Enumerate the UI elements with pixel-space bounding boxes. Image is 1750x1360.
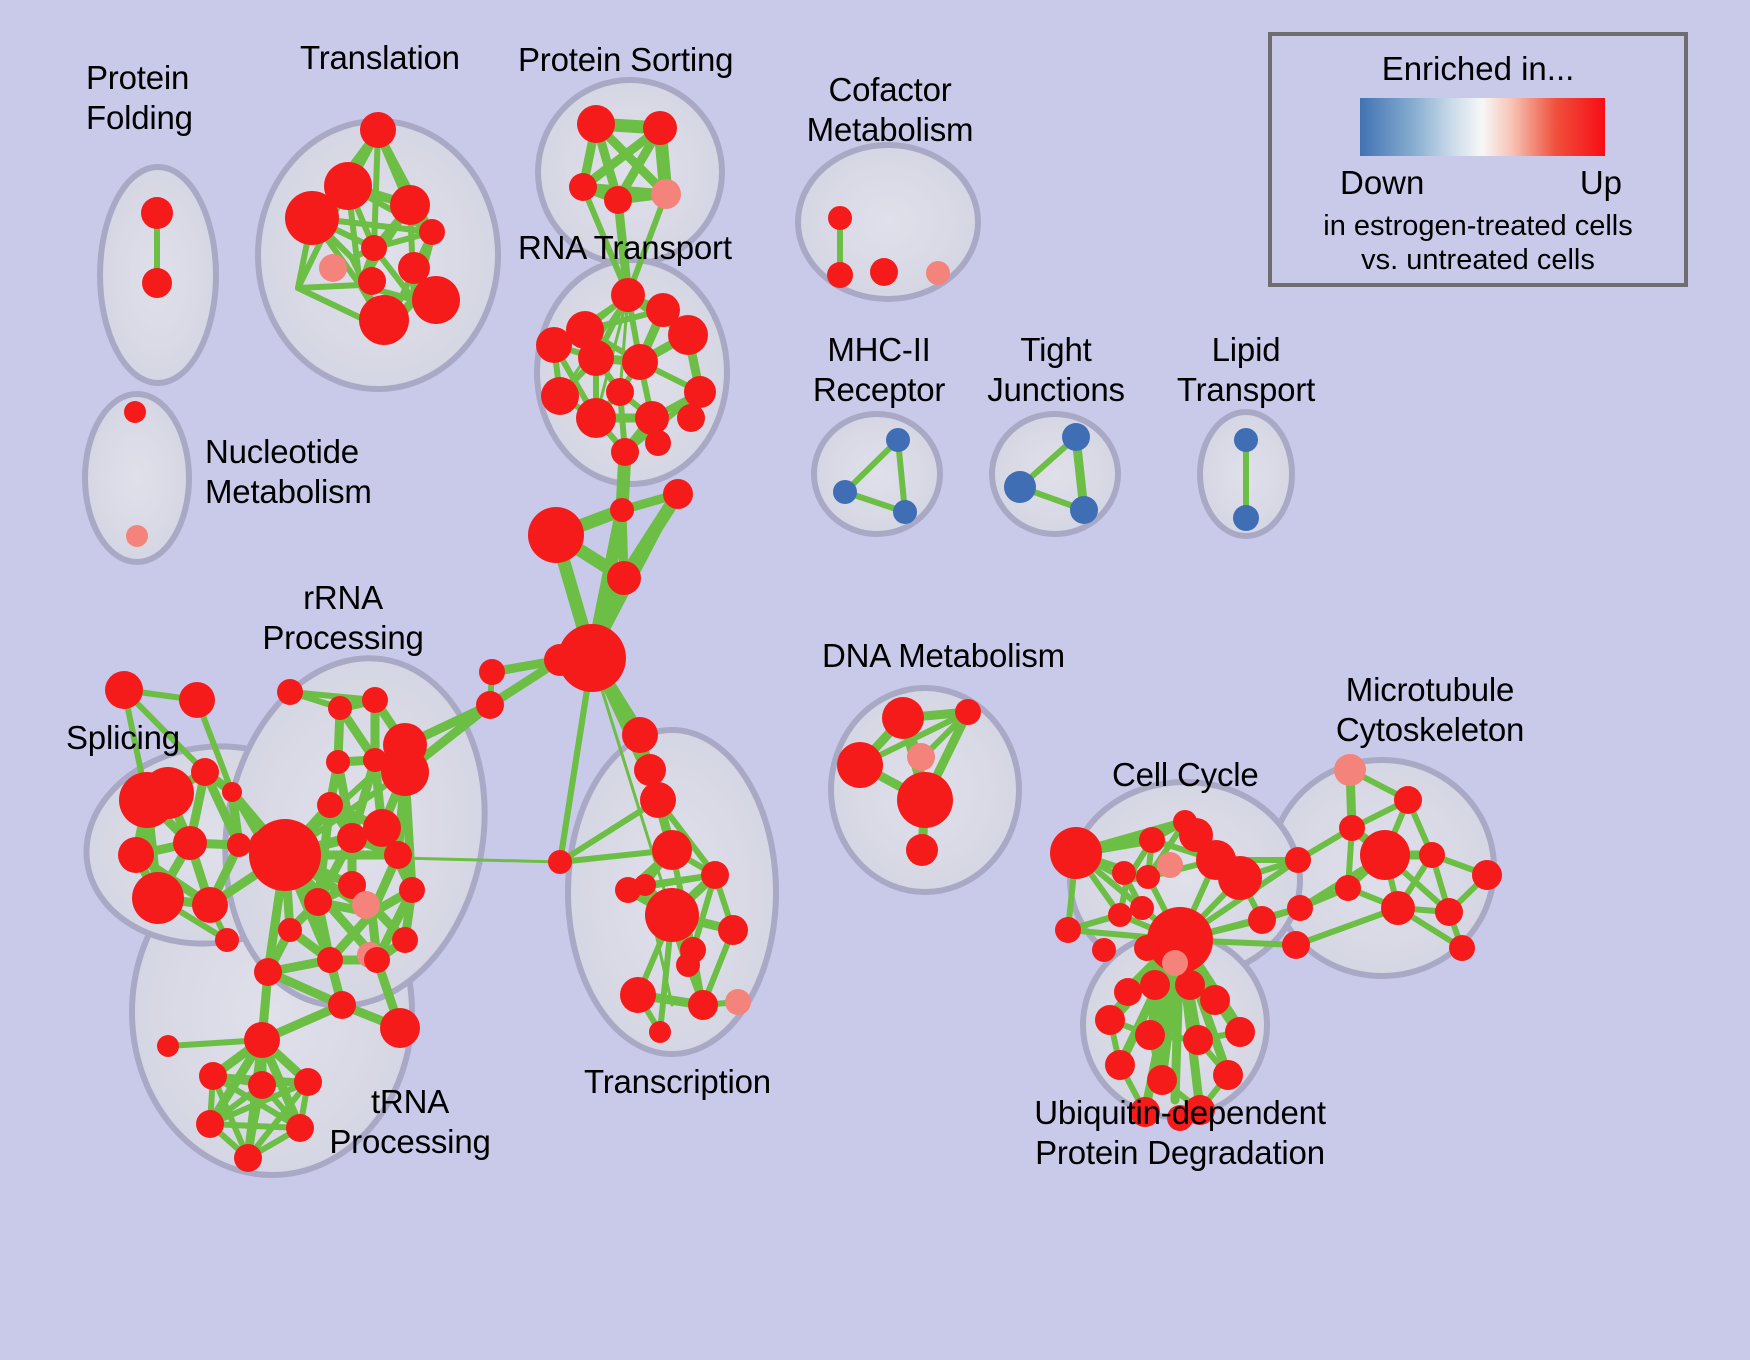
- node: [419, 219, 445, 245]
- node: [611, 438, 639, 466]
- node: [677, 404, 705, 432]
- cluster-label-tight-junctions: Tight Junctions: [965, 330, 1147, 410]
- node: [179, 682, 215, 718]
- node: [1394, 786, 1422, 814]
- node: [668, 315, 708, 355]
- node: [606, 378, 634, 406]
- node: [611, 278, 645, 312]
- node: [358, 267, 386, 295]
- node: [645, 888, 699, 942]
- node: [1139, 827, 1165, 853]
- node: [1070, 496, 1098, 524]
- node: [640, 782, 676, 818]
- node: [610, 498, 634, 522]
- node: [652, 830, 692, 870]
- node: [227, 833, 251, 857]
- node: [1135, 1020, 1165, 1050]
- cluster-label-cofactor-metabolism: Cofactor Metabolism: [790, 70, 990, 150]
- node: [886, 428, 910, 452]
- cluster-label-cell-cycle: Cell Cycle: [1112, 755, 1259, 795]
- node: [1334, 754, 1366, 786]
- enrichment-map-figure: .cl { fill:url(#clusterGrad); stroke:#a9…: [0, 0, 1750, 1360]
- cluster-label-mhc-ii-receptor: MHC-II Receptor: [790, 330, 968, 410]
- legend-subtitle-line2: vs. untreated cells: [1272, 244, 1684, 277]
- node: [364, 947, 390, 973]
- node: [622, 717, 658, 753]
- node: [955, 699, 981, 725]
- node: [118, 837, 154, 873]
- cluster-label-protein-folding: Protein Folding: [86, 58, 193, 138]
- node: [399, 877, 425, 903]
- cluster-label-transcription: Transcription: [584, 1062, 771, 1102]
- node: [1339, 815, 1365, 841]
- node: [1112, 861, 1136, 885]
- node: [676, 953, 700, 977]
- node: [1179, 818, 1213, 852]
- node: [604, 186, 632, 214]
- node: [250, 831, 274, 855]
- node: [1108, 903, 1132, 927]
- node: [126, 525, 148, 547]
- node: [381, 748, 429, 796]
- node: [1095, 1005, 1125, 1035]
- node: [199, 1062, 227, 1090]
- node: [541, 377, 579, 415]
- node: [578, 340, 614, 376]
- node: [157, 1035, 179, 1057]
- node: [390, 185, 430, 225]
- node: [384, 841, 412, 869]
- legend-low-label: Down: [1340, 164, 1424, 202]
- node: [548, 850, 572, 874]
- cluster-label-splicing: Splicing: [66, 718, 180, 758]
- node: [1147, 1065, 1177, 1095]
- node: [684, 376, 716, 408]
- node: [222, 782, 242, 802]
- node: [1200, 985, 1230, 1015]
- node: [1114, 978, 1142, 1006]
- node: [1130, 896, 1154, 920]
- node: [1105, 1050, 1135, 1080]
- node: [1360, 830, 1410, 880]
- legend-high-label: Up: [1580, 164, 1622, 202]
- node: [234, 1144, 262, 1172]
- node: [634, 754, 666, 786]
- node: [663, 479, 693, 509]
- node: [215, 928, 239, 952]
- cluster-label-ubiquitin-protein-degradation: Ubiquitin-dependent Protein Degradation: [1000, 1093, 1360, 1173]
- node: [893, 500, 917, 524]
- cluster-label-nucleotide-metabolism: Nucleotide Metabolism: [205, 432, 372, 512]
- node: [1134, 935, 1160, 961]
- node: [249, 819, 321, 891]
- cluster-ellipse-mhc-ii-receptor: [814, 414, 940, 534]
- node: [701, 861, 729, 889]
- cluster-label-rrna-processing: rRNA Processing: [248, 578, 438, 658]
- node: [1183, 1025, 1213, 1055]
- node: [141, 197, 173, 229]
- cluster-label-dna-metabolism: DNA Metabolism: [822, 636, 1065, 676]
- node: [906, 834, 938, 866]
- node: [1225, 1017, 1255, 1047]
- node: [576, 398, 616, 438]
- node: [1055, 917, 1081, 943]
- node: [328, 696, 352, 720]
- node: [277, 679, 303, 705]
- node: [278, 918, 302, 942]
- node: [528, 507, 584, 563]
- node: [622, 344, 658, 380]
- node: [620, 977, 656, 1013]
- node: [634, 874, 656, 896]
- node: [1157, 852, 1183, 878]
- node: [718, 915, 748, 945]
- node: [124, 401, 146, 423]
- legend-subtitle-line1: in estrogen-treated cells: [1272, 210, 1684, 243]
- node: [1004, 471, 1036, 503]
- node: [833, 480, 857, 504]
- cluster-label-protein-sorting: Protein Sorting: [518, 40, 733, 80]
- node: [649, 1021, 671, 1043]
- cluster-label-microtubule-cytoskeleton: Microtubule Cytoskeleton: [1290, 670, 1570, 750]
- node: [607, 561, 641, 595]
- node: [248, 1071, 276, 1099]
- node: [1234, 428, 1258, 452]
- node: [326, 750, 350, 774]
- node: [392, 927, 418, 953]
- node: [479, 659, 505, 685]
- node: [1092, 938, 1116, 962]
- node: [476, 691, 504, 719]
- node: [196, 1110, 224, 1138]
- node: [827, 262, 853, 288]
- node: [191, 758, 219, 786]
- node: [1381, 891, 1415, 925]
- node: [635, 401, 669, 435]
- node: [285, 191, 339, 245]
- node: [643, 111, 677, 145]
- node: [897, 772, 953, 828]
- node: [1218, 856, 1262, 900]
- node: [1335, 875, 1361, 901]
- node: [688, 990, 718, 1020]
- cluster-label-lipid-transport: Lipid Transport: [1155, 330, 1337, 410]
- node: [173, 826, 207, 860]
- node: [319, 254, 347, 282]
- node: [244, 1022, 280, 1058]
- cluster-label-translation: Translation: [300, 38, 460, 78]
- node: [1248, 906, 1276, 934]
- node: [725, 989, 751, 1015]
- node: [192, 887, 228, 923]
- node: [352, 891, 380, 919]
- node: [1233, 505, 1259, 531]
- node: [1062, 423, 1090, 451]
- cluster-label-rna-transport: RNA Transport: [518, 228, 732, 268]
- node: [1287, 895, 1313, 921]
- node: [1449, 935, 1475, 961]
- node: [544, 644, 576, 676]
- node: [828, 206, 852, 230]
- node: [317, 792, 343, 818]
- node: [317, 947, 343, 973]
- node: [926, 261, 950, 285]
- node: [142, 268, 172, 298]
- node: [1213, 1060, 1243, 1090]
- node: [362, 687, 388, 713]
- node: [837, 742, 883, 788]
- node: [359, 295, 409, 345]
- node: [254, 958, 282, 986]
- legend-color-gradient: [1360, 98, 1605, 156]
- node: [882, 697, 924, 739]
- node: [380, 1008, 420, 1048]
- node: [119, 772, 175, 828]
- node: [569, 173, 597, 201]
- node: [360, 112, 396, 148]
- node: [1140, 970, 1170, 1000]
- node: [1472, 860, 1502, 890]
- node: [132, 872, 184, 924]
- node: [412, 276, 460, 324]
- node: [645, 430, 671, 456]
- cluster-label-trna-processing: tRNA Processing: [300, 1082, 520, 1162]
- node: [337, 823, 367, 853]
- node: [577, 105, 615, 143]
- node: [328, 991, 356, 1019]
- node: [105, 671, 143, 709]
- legend-box: Enriched in... Down Up in estrogen-treat…: [1268, 32, 1688, 287]
- node: [361, 235, 387, 261]
- legend-title: Enriched in...: [1272, 50, 1684, 88]
- node: [1435, 898, 1463, 926]
- node: [304, 888, 332, 916]
- node: [1419, 842, 1445, 868]
- node: [1285, 847, 1311, 873]
- node: [1282, 931, 1310, 959]
- node: [1136, 865, 1160, 889]
- node: [1162, 950, 1188, 976]
- node: [651, 179, 681, 209]
- node: [536, 327, 572, 363]
- node: [1050, 827, 1102, 879]
- node: [907, 743, 935, 771]
- node: [870, 258, 898, 286]
